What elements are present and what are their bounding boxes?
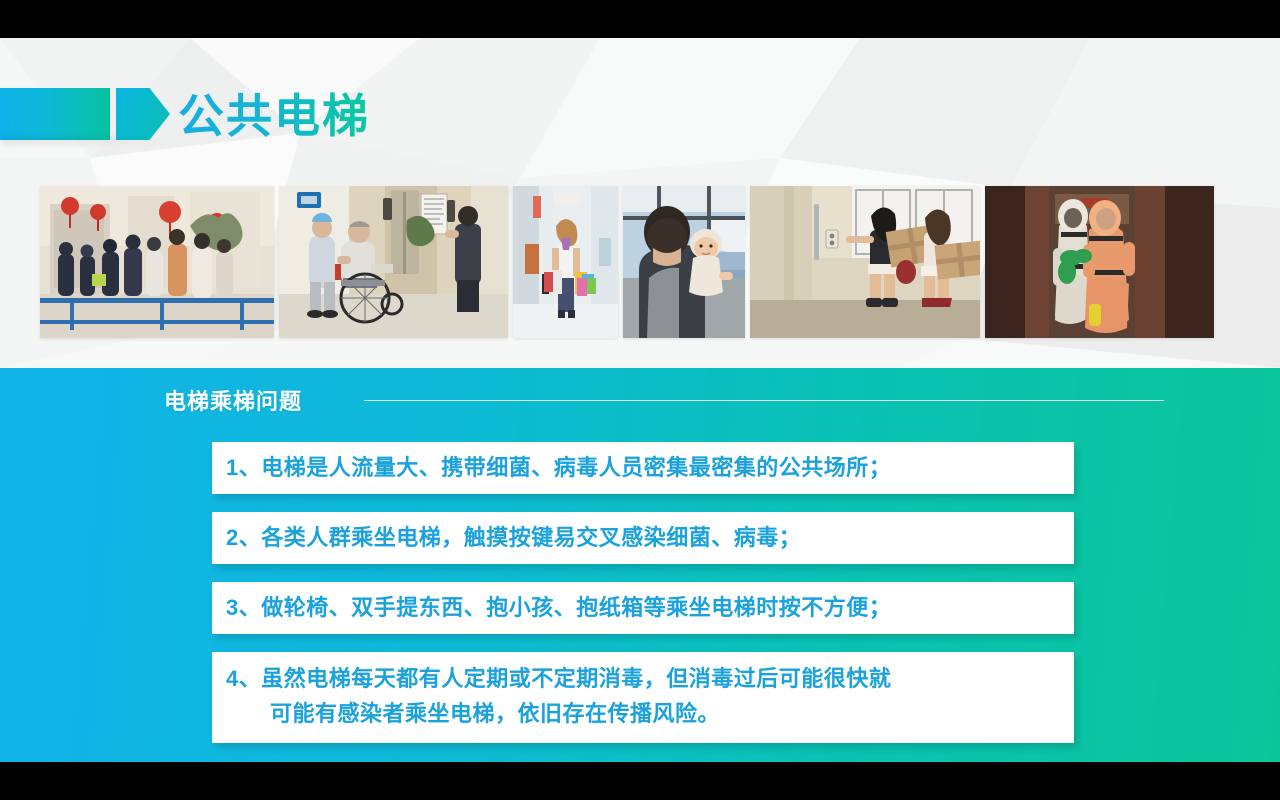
list-item[interactable]: 4、虽然电梯每天都有人定期或不定期消毒，但消毒过后可能很快就 可能有感染者乘坐电… bbox=[212, 652, 1074, 743]
presentation-slide: 公共电梯 bbox=[0, 38, 1280, 762]
list-item[interactable]: 3、做轮椅、双手提东西、抱小孩、抱纸箱等乘坐电梯时按不方便； bbox=[212, 582, 1074, 634]
photo-hospital-lobby-queue bbox=[40, 186, 274, 338]
banner-shadow bbox=[2, 138, 172, 144]
section-header: 电梯乘梯问题 bbox=[164, 384, 1164, 416]
list-item-line1: 4、虽然电梯每天都有人定期或不定期消毒，但消毒过后可能很快就 bbox=[226, 666, 891, 691]
content-panel: 电梯乘梯问题 1、电梯是人流量大、携带细菌、病毒人员密集最密集的公共场所； 2、… bbox=[0, 368, 1280, 762]
photo-woman-shopping-bags bbox=[513, 186, 618, 338]
photo-strip bbox=[40, 186, 1240, 338]
list-item[interactable]: 1、电梯是人流量大、携带细菌、病毒人员密集最密集的公共场所； bbox=[212, 442, 1074, 494]
list-item-line2: 可能有感染者乘坐电梯，依旧存在传播风险。 bbox=[226, 696, 1060, 731]
photo-man-holding-baby bbox=[623, 186, 745, 338]
letterbox-bottom bbox=[0, 762, 1280, 800]
slide-header-area: 公共电梯 bbox=[0, 38, 1280, 368]
slide-stage: 公共电梯 bbox=[0, 0, 1280, 800]
photo-hazmat-workers-elevator bbox=[985, 186, 1214, 338]
photo-women-carrying-boxes bbox=[750, 186, 980, 338]
section-title: 电梯乘梯问题 bbox=[164, 384, 302, 416]
banner-arrow-icon bbox=[116, 88, 170, 140]
problem-list: 1、电梯是人流量大、携带细菌、病毒人员密集最密集的公共场所； 2、各类人群乘坐电… bbox=[212, 442, 1074, 761]
photo-nurse-wheelchair-elevator bbox=[279, 186, 508, 338]
page-title: 公共电梯 bbox=[178, 87, 370, 145]
letterbox-top bbox=[0, 0, 1280, 38]
title-banner-mark bbox=[0, 88, 170, 140]
banner-rectangle bbox=[0, 88, 110, 140]
section-divider bbox=[364, 400, 1164, 401]
list-item[interactable]: 2、各类人群乘坐电梯，触摸按键易交叉感染细菌、病毒； bbox=[212, 512, 1074, 564]
